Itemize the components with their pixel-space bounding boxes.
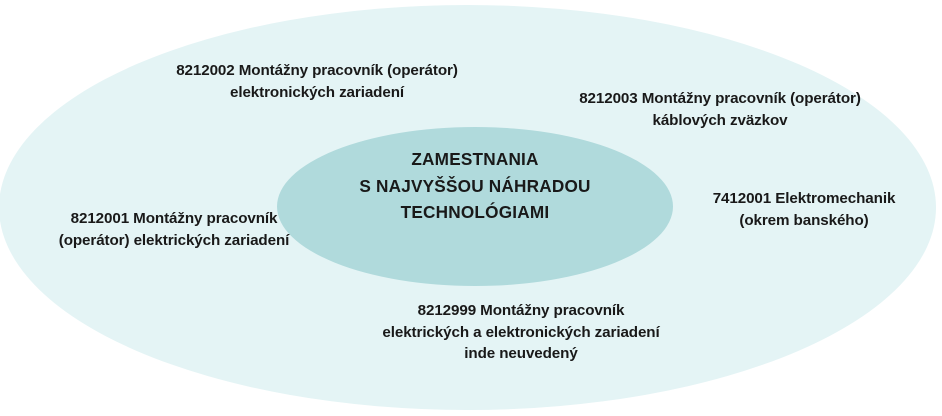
occupation-label-7412001: 7412001 Elektromechanik (okrem banského)	[676, 188, 932, 231]
center-title-label: ZAMESTNANIA S NAJVYŠŠOU NÁHRADOU TECHNOL…	[290, 146, 660, 226]
occupation-label-8212002: 8212002 Montážny pracovník (operátor) el…	[122, 60, 512, 103]
occupation-label-8212999: 8212999 Montážny pracovník elektrických …	[338, 300, 704, 365]
diagram-canvas: 8212002 Montážny pracovník (operátor) el…	[0, 0, 942, 416]
occupation-label-8212003: 8212003 Montážny pracovník (operátor) ká…	[518, 88, 922, 131]
